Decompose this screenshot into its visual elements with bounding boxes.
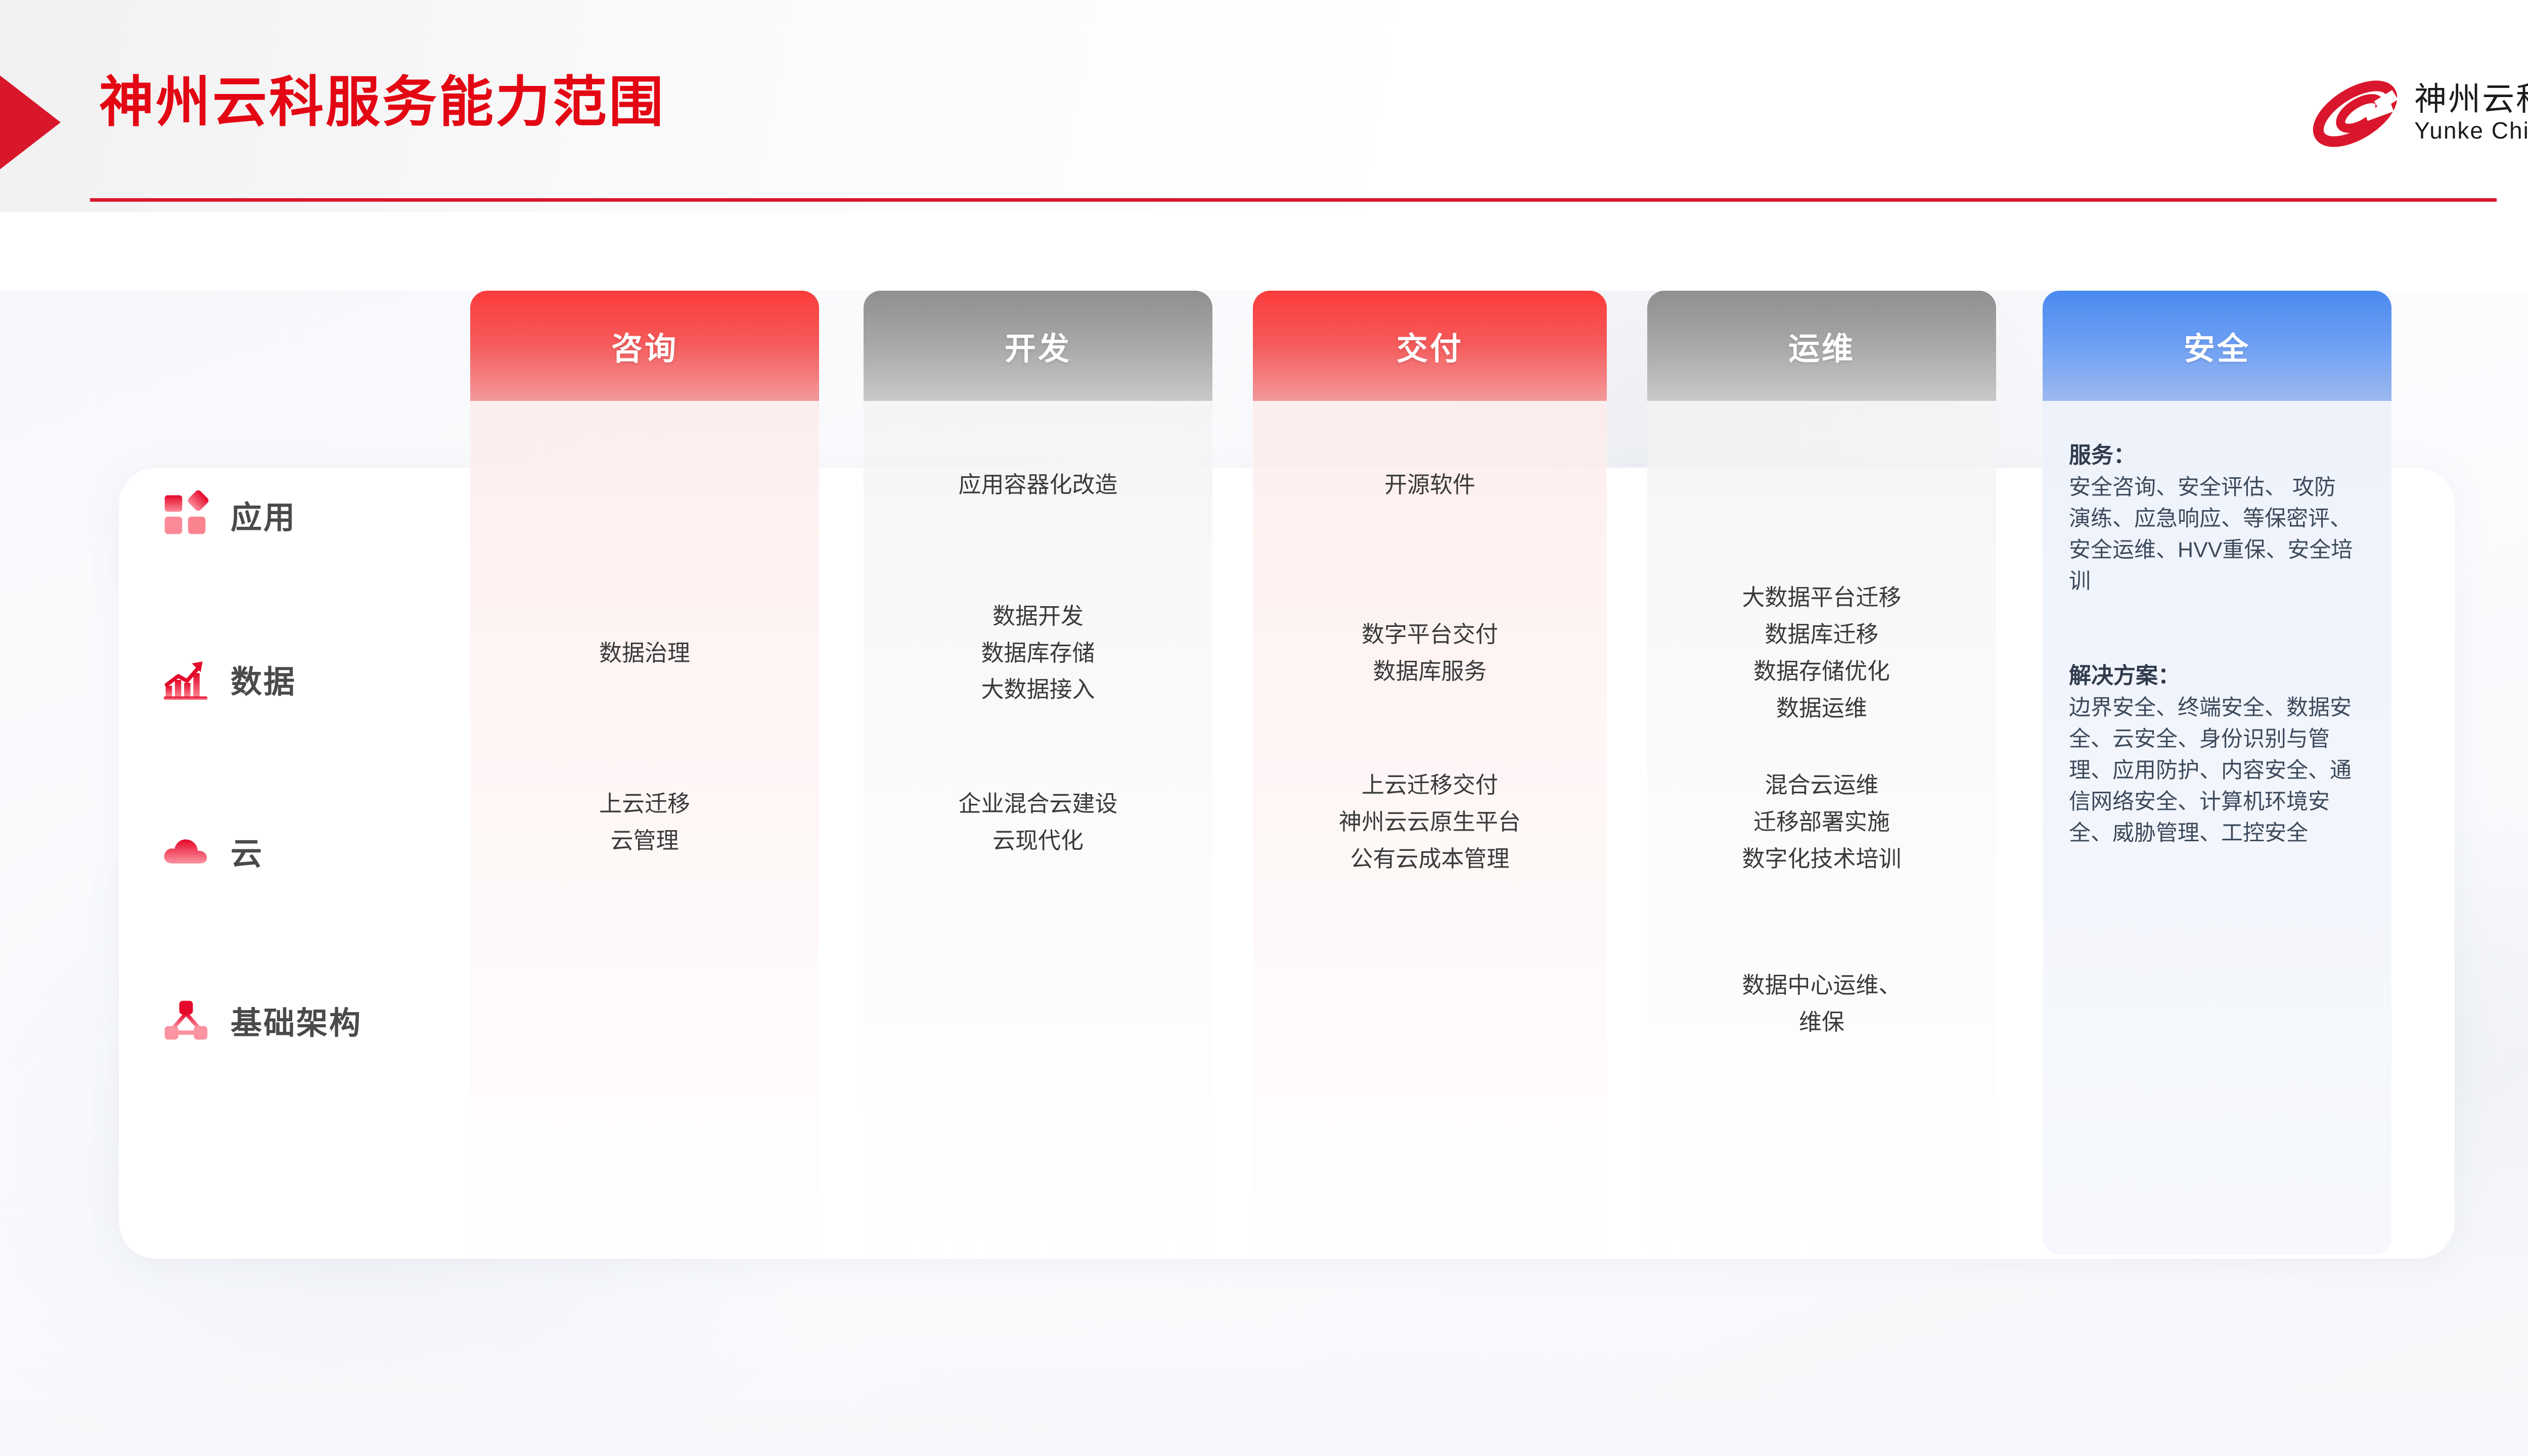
cell-line: 云管理 [610,823,679,859]
triangle-right-icon [0,72,61,172]
cell-line: 数字平台交付 [1362,616,1498,653]
header-divider [90,198,2497,202]
cell-development-data: 数据开发 数据库存储 大数据接入 [864,570,1212,737]
cell-operations-data: 大数据平台迁移 数据库迁移 数据存储优化 数据运维 [1647,570,1996,737]
row-label-text: 数据 [231,656,296,702]
column-header-label: 安全 [2184,323,2250,369]
security-panel: 服务： 安全咨询、安全评估、 攻防演练、应急响应、等保密评、安全运维、HVV重保… [2043,401,2391,1255]
column-body: 大数据平台迁移 数据库迁移 数据存储优化 数据运维 混合云运维 迁移部署实施 数… [1647,401,1996,1255]
row-label-app: 应用 [162,490,296,539]
column-header-delivery[interactable]: 交付 [1253,291,1607,401]
row-label-text: 基础架构 [231,997,362,1043]
column-header-label: 运维 [1788,323,1855,369]
row-label-text: 云 [231,828,263,874]
cell-line: 迁移部署实施 [1753,804,1890,841]
content-stage: 应用 数据 [0,291,2528,1456]
column-body: 应用容器化改造 数据开发 数据库存储 大数据接入 企业混合云建设 云现代化 [864,401,1212,1255]
hierarchy-nodes-icon [162,996,210,1044]
cell-line: 数据治理 [599,635,690,672]
cell-line: 数字化技术培训 [1742,841,1901,878]
cell-delivery-infrastructure [1253,908,1607,1100]
cell-consulting-app [470,401,819,569]
cell-line: 开源软件 [1384,467,1475,504]
cell-line: 数据中心运维、 [1742,967,1901,1004]
security-services-block: 服务： 安全咨询、安全评估、 攻防演练、应急响应、等保密评、安全运维、HVV重保… [2069,439,2357,598]
column-operations[interactable]: 运维 大数据平台迁移 数据库迁移 数据存储优化 数据运维 混合云运维 迁移部署实… [1647,291,1996,1255]
cell-operations-app [1647,401,1996,569]
brand-logo: 神州云科 Yunke China [2307,71,2528,157]
cell-delivery-cloud: 上云迁移交付 神州云云原生平台 公有云成本管理 [1253,738,1607,907]
column-consulting[interactable]: 咨询 数据治理 上云迁移 云管理 [470,291,819,1255]
cell-consulting-infrastructure [470,908,819,1100]
column-header-label: 开发 [1005,323,1071,369]
cell-line: 公有云成本管理 [1350,841,1509,878]
cell-line: 数据存储优化 [1753,653,1890,690]
column-header-label: 交付 [1396,323,1463,369]
cell-line: 数据库服务 [1373,653,1486,690]
column-header-development[interactable]: 开发 [864,291,1212,401]
cell-line: 应用容器化改造 [958,467,1117,504]
cell-line: 大数据平台迁移 [1742,579,1901,616]
cell-delivery-data: 数字平台交付 数据库服务 [1253,570,1607,737]
cell-line: 企业混合云建设 [958,786,1117,823]
column-header-consulting[interactable]: 咨询 [470,291,819,401]
column-header-security[interactable]: 安全 [2043,291,2391,401]
page-title: 神州云科服务能力范围 [99,58,665,137]
security-solutions-body: 边界安全、终端安全、数据安全、云安全、身份识别与管理、应用防护、内容安全、通信网… [2069,696,2352,845]
column-header-operations[interactable]: 运维 [1647,291,1996,401]
row-label-text: 应用 [231,492,296,537]
column-body: 开源软件 数字平台交付 数据库服务 上云迁移交付 神州云云原生平台 公有云成本管… [1253,401,1607,1255]
row-label-cloud: 云 [162,827,263,875]
row-label-data: 数据 [162,655,296,703]
cell-line: 混合云运维 [1765,767,1878,804]
cell-consulting-data: 数据治理 [470,570,819,737]
cell-delivery-app: 开源软件 [1253,401,1607,569]
cell-line: 神州云云原生平台 [1339,804,1521,841]
cell-operations-cloud: 混合云运维 迁移部署实施 数字化技术培训 [1647,738,1996,907]
cell-line: 数据库存储 [981,635,1095,672]
cell-consulting-cloud: 上云迁移 云管理 [470,738,819,907]
cell-line: 数据运维 [1776,690,1867,727]
cloud-icon [162,827,210,875]
page-header: 神州云科服务能力范围 神州云科 Yunke China [0,0,2528,212]
bar-chart-growth-icon [162,655,210,703]
cell-development-app: 应用容器化改造 [864,401,1212,569]
column-development[interactable]: 开发 应用容器化改造 数据开发 数据库存储 大数据接入 企业混合云建设 云现代化 [864,291,1212,1255]
cell-operations-infrastructure: 数据中心运维、 维保 [1647,908,1996,1100]
column-header-label: 咨询 [611,323,678,369]
cell-development-cloud: 企业混合云建设 云现代化 [864,738,1212,907]
row-label-infrastructure: 基础架构 [162,996,362,1044]
security-solutions-title: 解决方案： [2069,660,2357,692]
cell-development-infrastructure [864,908,1212,1100]
logo-name-en: Yunke China [2414,116,2528,146]
cell-line: 云现代化 [992,823,1084,859]
security-services-title: 服务： [2069,439,2357,471]
cell-line: 数据库迁移 [1765,616,1878,653]
logo-name-cn: 神州云科 [2414,82,2528,116]
yunke-swirl-logo-icon [2307,71,2403,157]
cell-line: 上云迁移 [599,786,690,823]
column-security[interactable]: 安全 服务： 安全咨询、安全评估、 攻防演练、应急响应、等保密评、安全运维、HV… [2043,291,2391,1255]
cell-line: 大数据接入 [981,671,1095,708]
app-blocks-icon [162,490,210,539]
cell-line: 上云迁移交付 [1362,767,1498,804]
security-solutions-block: 解决方案： 边界安全、终端安全、数据安全、云安全、身份识别与管理、应用防护、内容… [2069,660,2357,849]
column-delivery[interactable]: 交付 开源软件 数字平台交付 数据库服务 上云迁移交付 神州云云原生平台 公有云… [1253,291,1607,1255]
cell-line: 维保 [1799,1004,1844,1041]
column-body: 数据治理 上云迁移 云管理 [470,401,819,1255]
cell-line: 数据开发 [992,598,1084,635]
security-services-body: 安全咨询、安全评估、 攻防演练、应急响应、等保密评、安全运维、HVV重保、安全培… [2069,475,2353,594]
